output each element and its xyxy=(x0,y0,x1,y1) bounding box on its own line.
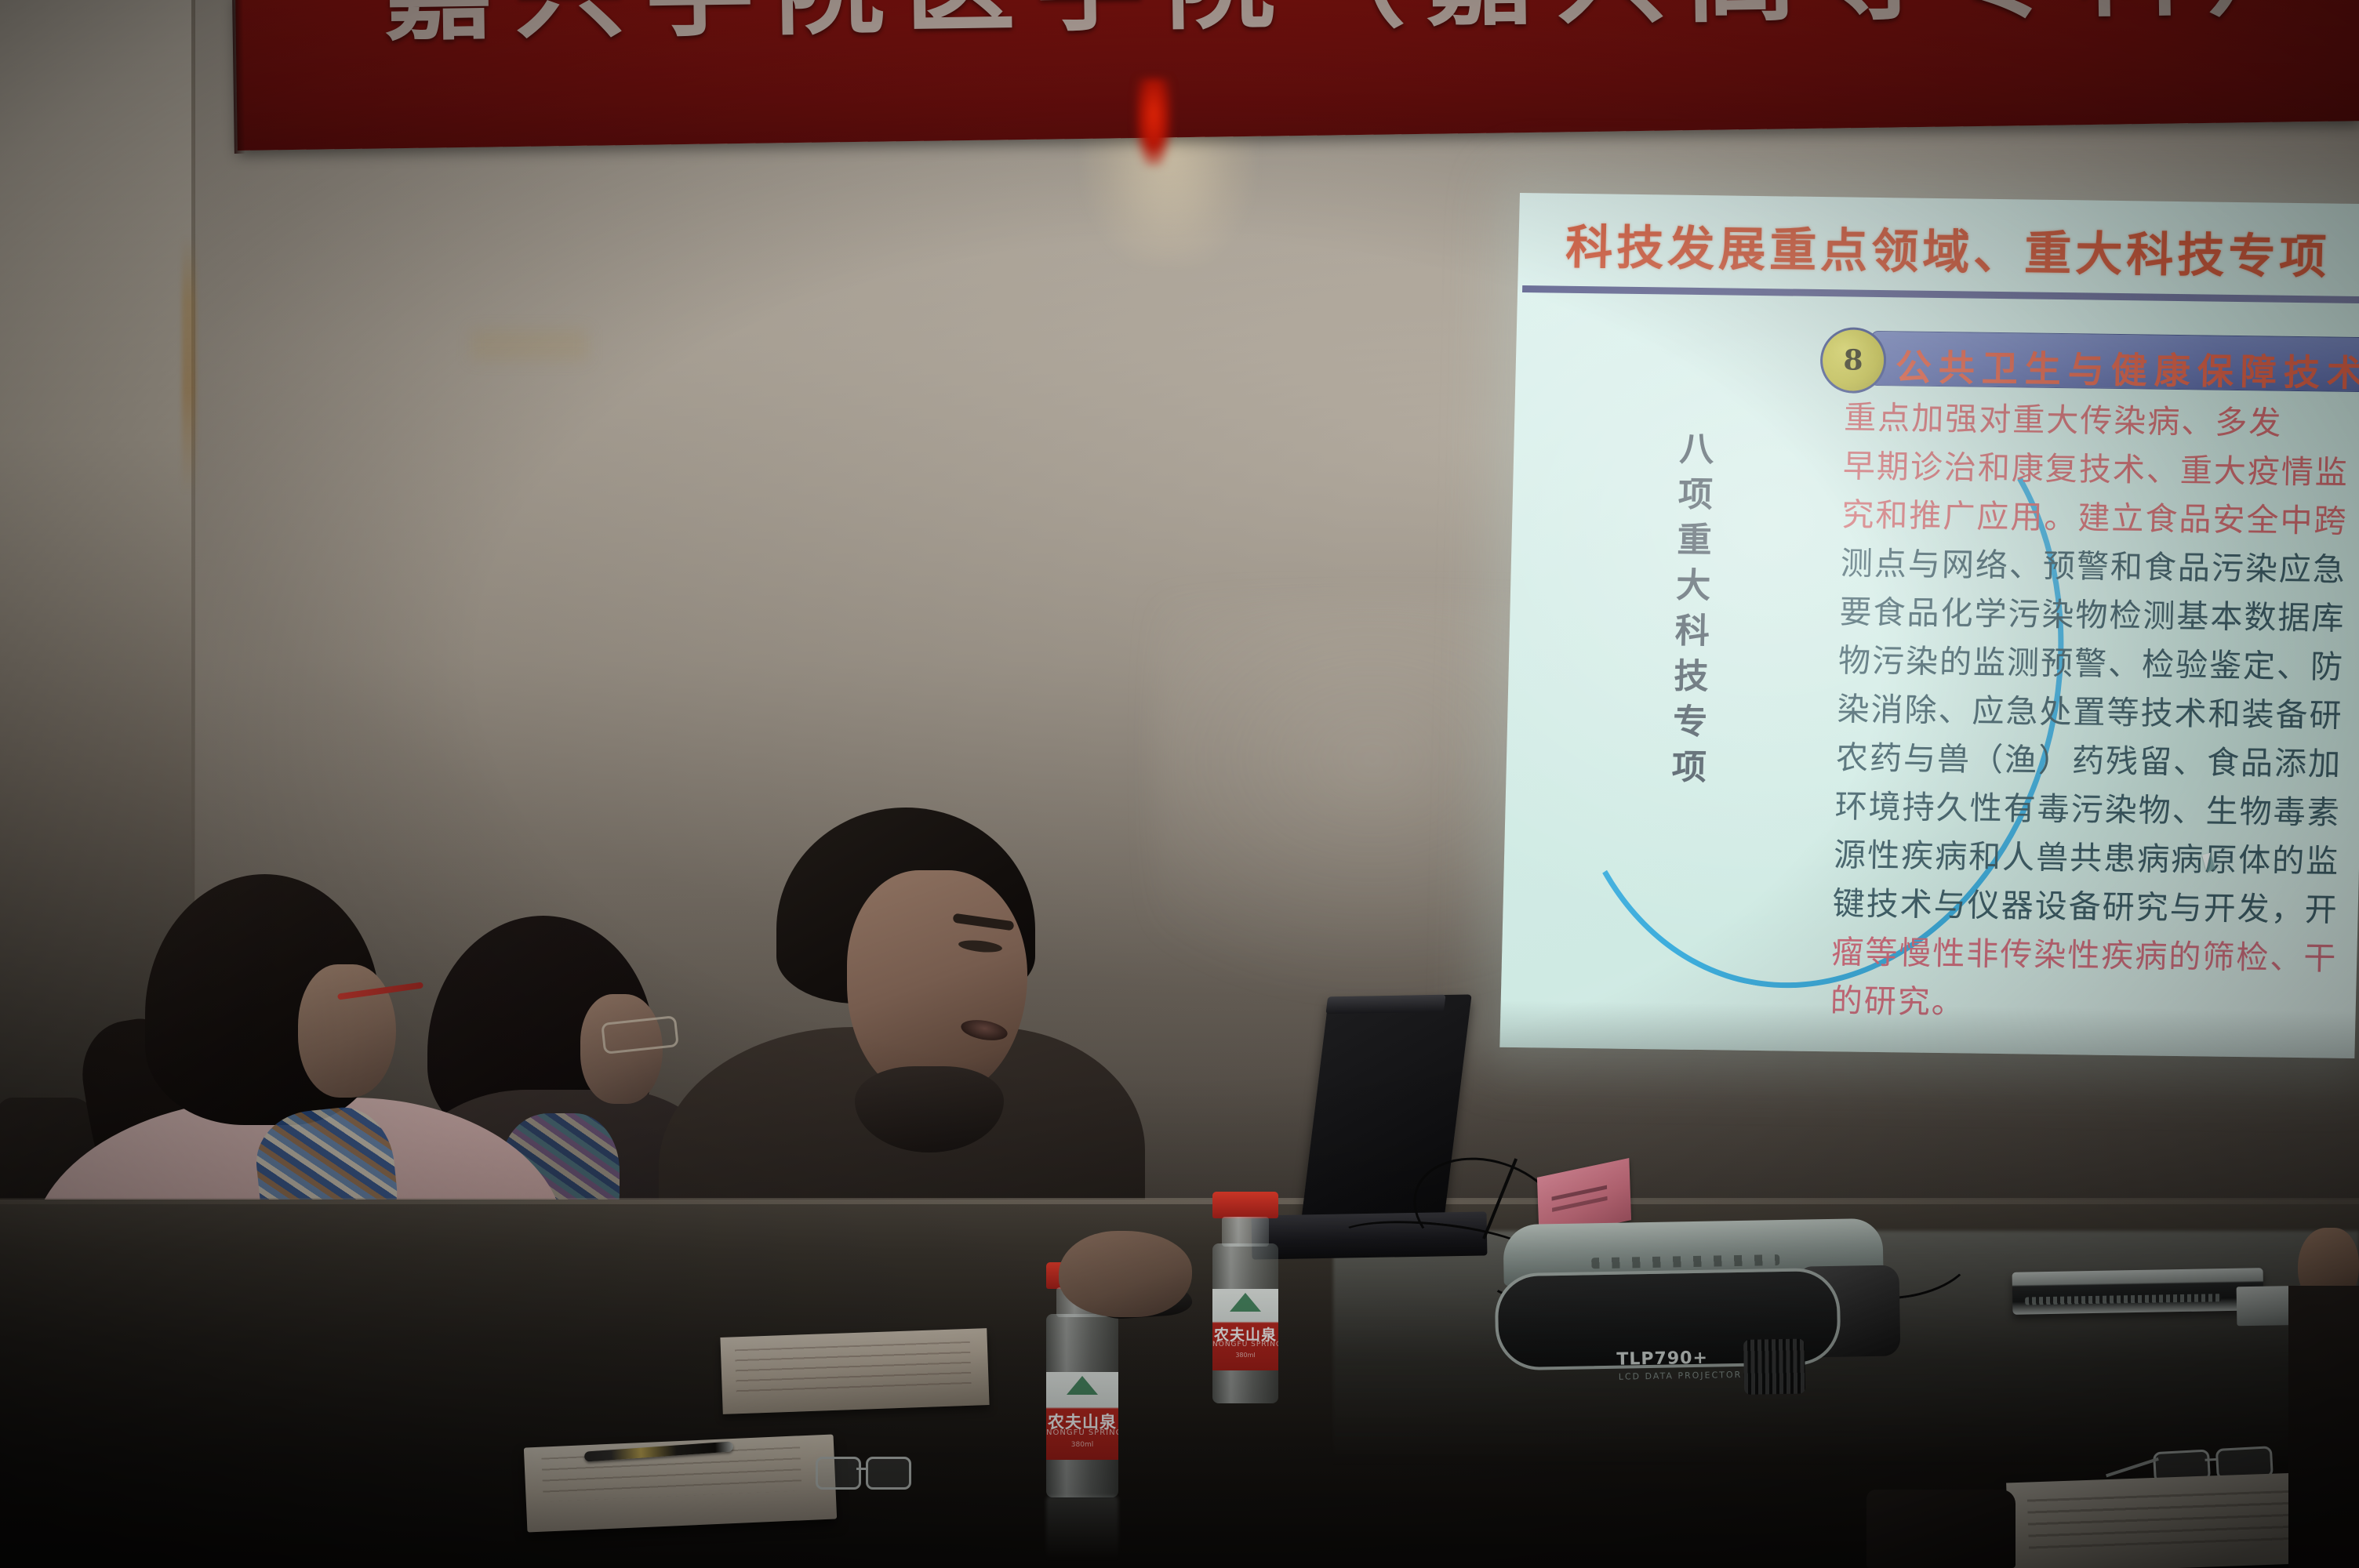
slide-body-text: 重点加强对重大传染病、多发 早期诊治和康复技术、重大疫情监 究和推广应用。建立食… xyxy=(1830,393,2359,1032)
projector-vent xyxy=(1743,1339,1805,1395)
slide-line: 测点与网络、预警和食品污染应急 xyxy=(1840,539,2359,594)
slide-line: 早期诊治和康复技术、重大疫情监 xyxy=(1842,441,2359,497)
slide-title: 科技发展重点领域、重大科技专项 xyxy=(1565,209,2331,288)
photo-scene: 嘉兴学院医学院（嘉兴高等专科） 科技发展重点领域、重大科技专项 8 公共卫生与健… xyxy=(0,0,2359,1568)
laptop-hinge xyxy=(1325,995,1445,1014)
mountain-logo-icon xyxy=(1230,1293,1261,1312)
slide-line: 要食品化学污染物检测基本数据库 xyxy=(1839,587,2359,643)
eyeglasses-left[interactable] xyxy=(816,1457,910,1488)
bridge xyxy=(856,1468,867,1470)
bottle-volume: 380ml xyxy=(1212,1352,1278,1359)
bottle-neck xyxy=(1222,1217,1269,1247)
face xyxy=(298,964,396,1098)
face xyxy=(847,870,1027,1098)
bottle-label: 农夫山泉 NONGFU SPRING 380ml xyxy=(1046,1372,1118,1460)
slide-line: 究和推广应用。建立食品安全中跨 xyxy=(1841,490,2359,546)
projector[interactable]: TLP790+ LCD DATA PROJECTOR xyxy=(1488,1218,1899,1372)
slide-line: 物污染的监测预警、检验鉴定、防 xyxy=(1837,636,2359,691)
printed-lines xyxy=(2027,1490,2295,1552)
bottle-brand-en: NONGFU SPRING xyxy=(1212,1341,1278,1348)
wall-stain xyxy=(182,235,196,494)
handwriting-lines xyxy=(735,1341,972,1399)
bottle-reflection xyxy=(1046,1496,1118,1568)
bottle-volume: 380ml xyxy=(1046,1441,1118,1449)
bottle-label: 农夫山泉 NONGFU SPRING 380ml xyxy=(1212,1289,1278,1370)
table-edge xyxy=(0,1198,2359,1204)
slide-line: 键技术与仪器设备研究与开发，开 xyxy=(1832,879,2359,935)
projected-slide: 科技发展重点领域、重大科技专项 8 公共卫生与健康保障技术 八项重大科技专项 重… xyxy=(1499,193,2359,1058)
red-indicator-light xyxy=(1136,78,1172,166)
bottle-brand-en: NONGFU SPRING xyxy=(1046,1428,1118,1437)
water-bottle[interactable]: 农夫山泉 NONGFU SPRING 380ml xyxy=(1212,1192,1278,1403)
banner-text: 嘉兴学院医学院（嘉兴高等专科） xyxy=(383,0,2338,62)
slide-line: 瘤等慢性非传染性疾病的筛检、干 xyxy=(1831,927,2359,983)
projector-subtitle-label: LCD DATA PROJECTOR xyxy=(1619,1370,1743,1382)
remote-control[interactable] xyxy=(2012,1268,2264,1315)
slide-line: 农药与兽（渔）药残留、食品添加 xyxy=(1835,733,2359,789)
open-notebook[interactable] xyxy=(720,1328,989,1414)
lens xyxy=(866,1457,911,1490)
lens xyxy=(816,1457,861,1490)
torso-person-right xyxy=(2288,1286,2359,1568)
slide-line: 源性疾病和人兽共患病病原体的监 xyxy=(1833,830,2359,886)
hand-man-center xyxy=(1059,1231,1192,1317)
wall-stain-secondary xyxy=(471,329,588,361)
slide-line: 染消除、应急处置等技术和装备研 xyxy=(1837,684,2359,740)
slide-line: 环境持久性有毒污染物、生物毒素 xyxy=(1834,782,2359,837)
badge-label: 公共卫生与健康保障技术 xyxy=(1895,339,2359,397)
mountain-logo-icon xyxy=(1067,1376,1098,1395)
projector-model-label: TLP790+ xyxy=(1616,1348,1708,1370)
bag xyxy=(1866,1490,2016,1568)
slide-title-rule xyxy=(1522,285,2359,303)
slide-vertical-label: 八项重大科技专项 xyxy=(1659,430,1718,794)
bottle-cap xyxy=(1212,1192,1278,1218)
banner-left-edge xyxy=(232,0,245,154)
slide-line: 重点加强对重大传染病、多发 xyxy=(1844,393,2359,448)
projector-front-panel: TLP790+ LCD DATA PROJECTOR xyxy=(1494,1268,1841,1371)
